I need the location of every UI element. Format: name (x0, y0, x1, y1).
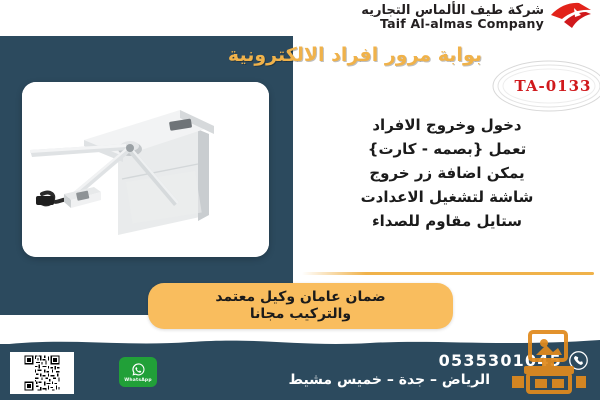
company-name-arabic: شركة طيف الألماس التجاريه (361, 4, 544, 18)
feature-item: دخول وخروج الافراد (302, 118, 592, 133)
feature-item: شاشة لتشغيل الاعدادت (302, 190, 592, 205)
feature-item: يمكن اضافة زر خروج (302, 166, 592, 181)
shop-storefront-watermark-icon (506, 328, 592, 394)
brand-lockup: شركة طيف الألماس التجاريه Taif Al-almas … (361, 2, 592, 32)
product-code-badge: TA-0133 (490, 58, 600, 114)
page-title: بوابة مرور افراد الالكترونية (228, 44, 482, 66)
product-image-card (22, 82, 269, 257)
whatsapp-label: WhatsApp (124, 378, 152, 383)
tripod-turnstile-gate-illustration (22, 82, 269, 257)
features-list: دخول وخروج الافراد تعمل {بصمه - كارت} يم… (302, 118, 592, 229)
header-bar: شركة طيف الألماس التجاريه Taif Al-almas … (0, 0, 600, 36)
warranty-banner: ضمان عامان وكيل معتمد والتركيب مجانا (148, 283, 453, 329)
poster-root: شركة طيف الألماس التجاريه Taif Al-almas … (0, 0, 600, 400)
warranty-text: ضمان عامان وكيل معتمد والتركيب مجانا (215, 289, 385, 324)
brand-text: شركة طيف الألماس التجاريه Taif Al-almas … (361, 4, 544, 31)
product-code-text: TA-0133 (490, 58, 600, 114)
company-name-english: Taif Al-almas Company (361, 17, 544, 30)
warranty-line-2: والتركيب مجانا (215, 306, 385, 324)
gold-divider-rule (302, 272, 594, 275)
whatsapp-glyph (131, 362, 146, 377)
red-chevron-arrow-logo-icon (550, 2, 592, 32)
feature-item: ستايل مقاوم للصداء (302, 214, 592, 229)
whatsapp-icon[interactable]: WhatsApp (119, 357, 157, 387)
cities-line: الرياض – جدة – خميس مشيط (288, 372, 490, 388)
feature-item: تعمل {بصمه - كارت} (302, 142, 592, 157)
warranty-line-1: ضمان عامان وكيل معتمد (215, 289, 385, 307)
qr-code-icon[interactable] (10, 352, 74, 394)
